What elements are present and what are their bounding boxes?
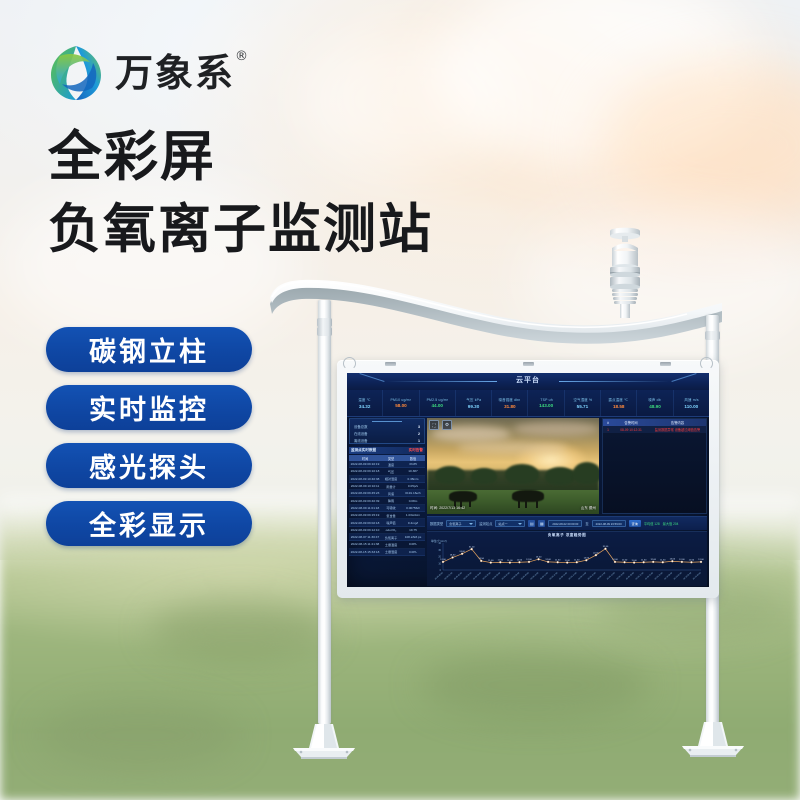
chart-data-point — [662, 561, 664, 563]
chart-x-tick-label: 08-09 21:00 — [635, 572, 644, 580]
site-select[interactable]: 站点一 — [495, 520, 525, 527]
chart-data-label: 11.50 — [689, 559, 695, 561]
table-cell: 0.4mg/l — [401, 521, 425, 525]
chart-data-label: 12.00 — [545, 559, 551, 561]
chart-x-tick-label: 08-09 02:00 — [454, 572, 463, 580]
table-cell: odor/O₂ — [381, 528, 401, 532]
chart-data-label: 31.00 — [469, 546, 475, 548]
panel-accent-line — [372, 421, 402, 422]
metric-value: 31.80 — [504, 404, 516, 409]
video-bush — [545, 467, 575, 485]
video-cow — [512, 490, 544, 502]
date-end-input[interactable]: 2022-08-09 23:59:00 — [592, 520, 626, 527]
metric-cell: PM10 ug/m³58.00 — [383, 390, 419, 416]
table-row[interactable]: 2022-08-15 11:21:38土壤温度0.0PL — [349, 541, 425, 548]
chevron-down-icon — [518, 523, 522, 525]
table-cell: 2022-08-09 09:10:19 — [349, 462, 381, 466]
metric-label: TSP uh — [540, 398, 552, 402]
table-cell: 0191.16e/h — [401, 491, 425, 495]
data-type-select[interactable]: 负氧离子 — [446, 520, 476, 527]
chart-data-point — [557, 561, 559, 563]
chart-data-point — [576, 561, 578, 563]
table-cell: 可吸收 — [381, 505, 401, 510]
metric-label: 风速 m/s — [684, 398, 698, 403]
chart-x-tick-label: 08-09 16:00 — [588, 572, 597, 580]
field-texture — [150, 600, 330, 660]
alarm-column-header: 告警内容 — [649, 420, 706, 425]
table-row[interactable]: 2022-08-09 09:10:19温度33.85 — [349, 461, 425, 468]
chart-data-point — [471, 548, 473, 550]
chart-x-tick-label: 08-09 23:00 — [655, 572, 664, 580]
metric-value: 58.00 — [395, 403, 407, 408]
capture-icon[interactable]: ⛶ — [429, 420, 439, 430]
chart-y-tick-label: 10 — [438, 562, 441, 565]
chart-data-label: 11.50 — [498, 559, 504, 561]
table-cell: 相对湿度 — [381, 476, 401, 481]
metric-cell: 风速 m/s110.00 — [674, 390, 709, 416]
chart-data-point — [566, 562, 568, 564]
metric-cell: 气压 kPa99.30 — [456, 390, 492, 416]
metric-value: 143.00 — [539, 403, 553, 408]
chart-x-tick-label: 08-09 11:00 — [540, 572, 549, 580]
table-row[interactable]: 2022-08-09 10:10:11雨量计0.05p/s — [349, 483, 425, 490]
data-section-header: 监测点实时数据 实时告警 — [349, 447, 425, 454]
table-cell: 10.387 — [401, 469, 425, 473]
chart-data-point — [442, 561, 444, 563]
chart-data-point — [633, 562, 635, 564]
device-stat-row: 离线设备1 — [354, 437, 420, 444]
metric-strip: 温度 ℃34.32PM10 ug/m³58.00PM2.5 ug/m³44.00… — [347, 390, 709, 417]
brand-name-text: 万象系 — [115, 51, 235, 95]
metric-label: PM2.5 ug/m³ — [426, 398, 448, 402]
chart-data-point — [690, 561, 692, 563]
chart-x-tick-label: 08-09 19:00 — [616, 572, 625, 580]
chart-x-tick-label: 08-10 01:00 — [674, 572, 683, 580]
data-type-label: 数据类型 — [430, 521, 443, 526]
metric-label: 空气湿度 % — [573, 398, 592, 403]
table-cell: 2022-08-15 15:33:18 — [349, 550, 381, 554]
table-row[interactable]: 2022-08-15 15:33:18土壤湿度0.0PL — [349, 549, 425, 556]
feature-badge-list: 碳钢立柱 实时监控 感光探头 全彩显示 — [46, 327, 252, 546]
table-cell: 土壤温度 — [381, 542, 401, 547]
chart-x-tick-label: 08-10 02:00 — [683, 572, 692, 580]
device-stat-value: 2 — [418, 432, 420, 436]
readout-maximum: 最大值 204 — [663, 521, 679, 526]
table-cell: 2022-08-07 11:30:47 — [349, 535, 381, 539]
device-stat-row: 设备总数3 — [354, 423, 420, 430]
chart-x-tick-label: 08-09 07:00 — [502, 572, 511, 580]
chart-x-tick-label: 08-09 05:00 — [483, 572, 492, 580]
chart-data-point — [604, 548, 606, 550]
metric-label: 气压 kPa — [466, 398, 481, 403]
site-value: 站点一 — [498, 521, 507, 526]
metric-label: 露点温度 ℃ — [609, 398, 629, 403]
swirl-sphere-icon — [48, 44, 104, 102]
camera-video-feed[interactable]: ⛶ ⚙ 时间: 2022/7/13 16:42 山东 德州 — [427, 418, 599, 514]
table-cell: 19.75 — [401, 528, 425, 532]
chart-data-point — [490, 562, 492, 564]
chart-data-point — [671, 560, 673, 562]
chart-data-label: 12.00 — [679, 559, 685, 561]
table-cell: 0.0PL — [401, 542, 425, 546]
chart-view-icon[interactable]: ▦ — [538, 520, 545, 527]
chart-x-tick-label: 08-09 06:00 — [492, 572, 501, 580]
metric-value: 55.71 — [577, 404, 589, 409]
chart-data-label: 16.00 — [536, 556, 542, 558]
metric-label: 温度 ℃ — [358, 398, 370, 403]
chart-data-label: 11.50 — [622, 559, 628, 561]
chart-x-tick-label: 08-09 17:00 — [597, 572, 606, 580]
table-cell: 0.0PL — [401, 550, 425, 554]
chart-data-label: 11.50 — [517, 559, 523, 561]
table-cell: 雨量计 — [381, 484, 401, 489]
chart-data-point — [452, 557, 454, 559]
metric-cell: 空气湿度 %55.71 — [565, 390, 601, 416]
feature-badge-realtime-monitoring[interactable]: 实时监控 — [46, 385, 252, 430]
table-row[interactable]: 2022-08-09 09:10:18气压10.387 — [349, 468, 425, 475]
headline-line-1: 全彩屏 — [48, 126, 433, 188]
chart-data-label: 11.50 — [574, 559, 580, 561]
table-column-header: 类型 — [381, 456, 401, 461]
table-cell: 2022-08-15 11:21:38 — [349, 542, 381, 546]
metric-label: 噪声 db — [649, 398, 662, 403]
chart-data-label: 12.00 — [526, 559, 532, 561]
chart-data-label: 11.00 — [507, 560, 513, 562]
table-row[interactable]: 2022-08-09 09:15:19氧含量1.03s/dcm — [349, 512, 425, 519]
table-row[interactable]: 2022-08-09 11:01:18可吸收0.007562/ — [349, 505, 425, 512]
metric-cell: 露点温度 ℃18.58 — [601, 390, 637, 416]
chart-data-label: 13.00 — [670, 558, 676, 560]
video-cow-leg — [525, 501, 527, 508]
query-button[interactable]: 查询 — [629, 520, 641, 527]
chart-data-point — [700, 561, 702, 563]
chart-data-label: 12.00 — [440, 559, 446, 561]
field-texture — [420, 650, 650, 720]
table-cell: 噪声值 — [381, 520, 401, 525]
chart-y-tick-label: 30 — [438, 549, 441, 552]
chart-data-label: 11.50 — [660, 559, 666, 561]
metric-cell: 噪音强度 dbn31.80 — [492, 390, 528, 416]
table-cell: 2022-08-09 09:40:39 — [349, 499, 381, 503]
table-row[interactable]: 2022-08-09 10:40:38相对湿度0.38m/s — [349, 476, 425, 483]
chart-data-point — [480, 560, 482, 562]
table-cell: 0.007562/ — [401, 506, 425, 510]
chart-data-label: 11.50 — [555, 559, 561, 561]
date-start-input[interactable]: 2022-08-02 00:00:00 — [548, 520, 582, 527]
table-cell: 风速 — [381, 491, 401, 496]
realtime-alert-label: 实时告警 — [409, 448, 423, 453]
metric-value: 48.90 — [649, 404, 661, 409]
table-cell: 0.05p/s — [401, 484, 425, 488]
alarm-header-row: #告警时间告警内容 — [603, 419, 706, 426]
readout-average: 平均值 128 — [644, 521, 660, 526]
table-cell: 氧含量 — [381, 513, 401, 518]
table-cell: 负氧离子 — [381, 535, 401, 540]
alarm-panel[interactable]: #告警时间告警内容 108-09 10:12:31监测数据异常 设备超过阈值告警 — [602, 418, 707, 514]
table-cell: 2022-08-09 09:45:23 — [349, 491, 381, 495]
table-view-icon[interactable]: ▤ — [528, 520, 535, 527]
table-column-header: 数值 — [401, 456, 425, 461]
chart-x-tick-label: 08-09 08:00 — [511, 572, 520, 580]
data-type-value: 负氧离子 — [449, 521, 461, 526]
metric-value: 18.58 — [613, 404, 625, 409]
field-texture — [40, 700, 240, 770]
chart-data-label: 24.00 — [459, 551, 465, 553]
device-stat-value: 3 — [418, 425, 420, 429]
chart-data-point — [499, 561, 501, 563]
video-bush — [471, 468, 497, 484]
table-cell: 2022-08-09 09:10:18 — [349, 469, 381, 473]
led-display-screen[interactable]: 云平台 监测站点一 欢迎您 管理员 退出 温度 ℃34.32PM10 ug/m³… — [347, 373, 709, 587]
metric-cell: TSP uh143.00 — [528, 390, 564, 416]
video-bush — [505, 464, 539, 484]
chart-x-tick-label: 08-09 09:00 — [521, 572, 530, 580]
chart-x-tick-label: 08-09 03:00 — [463, 572, 472, 580]
chart-data-label: 12.00 — [612, 559, 618, 561]
metric-value: 34.32 — [359, 404, 371, 409]
chart-x-tick-label: 08-09 18:00 — [607, 572, 616, 580]
feature-badge-full-color-display[interactable]: 全彩显示 — [46, 501, 252, 546]
table-cell: 1.03s/dcm — [401, 513, 425, 517]
chevron-down-icon — [469, 523, 473, 525]
device-stat-value: 1 — [418, 439, 420, 443]
chart-data-point — [547, 561, 549, 563]
device-stats-panel: 设备总数3在线设备2离线设备1 — [349, 418, 425, 444]
brand-logo: 万象系 ® — [48, 44, 235, 102]
table-cell: 2022-08-09 11:01:18 — [349, 506, 381, 510]
feature-badge-light-sensor[interactable]: 感光探头 — [46, 443, 252, 488]
table-cell: 温度 — [381, 462, 401, 467]
dashboard-title: 云平台 — [347, 375, 709, 385]
metric-value: 99.30 — [468, 404, 480, 409]
table-cell: 2022-08-09 10:10:11 — [349, 484, 381, 488]
table-cell: 2022-08-09 09:02:18 — [349, 521, 381, 525]
chart-data-label: 31.50 — [603, 546, 609, 548]
chart-data-point — [652, 561, 654, 563]
table-row[interactable]: 2022-08-09 09:12:10odor/O₂19.75 — [349, 527, 425, 534]
chart-y-tick-label: 0 — [440, 569, 442, 572]
chart-data-label: 14.50 — [584, 557, 590, 559]
metric-label: 噪音强度 dbn — [499, 398, 521, 403]
metric-value: 44.00 — [431, 403, 443, 408]
chart-data-label: 11.00 — [488, 560, 494, 562]
video-bush — [435, 466, 465, 484]
metric-value: 110.00 — [684, 404, 698, 409]
alarm-column-header: 告警时间 — [613, 420, 649, 425]
video-cow-leg — [469, 501, 471, 507]
chart-y-tick-label: 40 — [438, 542, 441, 545]
table-header-row: 时间类型数值 — [349, 455, 425, 461]
chart-data-point — [518, 561, 520, 563]
chart-data-label: 12.00 — [650, 559, 656, 561]
video-timestamp: 时间: 2022/7/13 16:42 — [430, 506, 465, 511]
video-toolbar[interactable]: ⛶ ⚙ — [429, 420, 452, 430]
metric-cell: 温度 ℃34.32 — [347, 390, 383, 416]
video-cow-leg — [536, 501, 538, 508]
table-row[interactable]: 2022-08-09 09:45:23风速0191.16e/h — [349, 490, 425, 497]
chart-x-tick-label: 08-09 01:00 — [444, 572, 453, 580]
video-location: 山东 德州 — [581, 506, 596, 511]
table-cell: 2022-08-09 09:12:10 — [349, 528, 381, 532]
alarm-row[interactable]: 108-09 10:12:31监测数据异常 设备超过阈值告警 — [603, 426, 706, 433]
chart-data-point — [585, 559, 587, 561]
table-row[interactable]: 2022-08-09 09:02:18噪声值0.4mg/l — [349, 519, 425, 526]
data-section-title: 监测点实时数据 — [351, 448, 376, 453]
chart-data-label: 11.50 — [641, 559, 647, 561]
alarm-cell: 08-09 10:12:31 — [613, 428, 649, 432]
left-column: 设备总数3在线设备2离线设备1 监测点实时数据 实时告警 时间类型数值 2022… — [349, 418, 425, 585]
video-cow-leg — [518, 501, 520, 508]
trend-line-chart: 01020304012.0008-09 00:0018.5008-09 01:0… — [427, 538, 707, 584]
device-stat-name: 设备总数 — [354, 424, 368, 429]
alarm-cell: 监测数据异常 设备超过阈值告警 — [649, 427, 706, 432]
query-control-bar[interactable]: 数据类型 负氧离子 监测站点 站点一 ▤ ▦ 2022-08-02 00:00:… — [427, 516, 707, 530]
measurement-table[interactable]: 时间类型数值 2022-08-09 09:10:19温度33.852022-08… — [349, 455, 425, 556]
chart-x-tick-label: 08-09 15:00 — [578, 572, 587, 580]
chart-data-label: 11.00 — [565, 560, 571, 562]
table-row[interactable]: 2022-08-09 09:40:39降雨0.08m — [349, 497, 425, 504]
chart-x-tick-label: 08-09 00:00 — [435, 572, 444, 580]
chart-data-label: 13.50 — [478, 558, 484, 560]
video-timestamp-label: 时间: — [430, 506, 438, 510]
table-cell: 0.08m — [401, 499, 425, 503]
table-cell: 2022-08-09 09:15:19 — [349, 513, 381, 517]
device-stat-row: 在线设备2 — [354, 430, 420, 437]
chart-x-tick-label: 08-09 22:00 — [645, 572, 654, 580]
metric-cell: 噪声 db48.90 — [637, 390, 673, 416]
video-bush — [573, 462, 599, 484]
table-cell: 0.38m/s — [401, 477, 425, 481]
chart-x-tick-label: 08-09 04:00 — [473, 572, 482, 580]
table-cell: 降雨 — [381, 498, 401, 503]
chart-data-label: 11.00 — [631, 560, 637, 562]
trend-chart-panel[interactable]: 负氧离子 浓度趋势图 单位(个/cm³) 01020304012.0008-09… — [427, 531, 707, 586]
chart-x-tick-label: 08-09 14:00 — [569, 572, 578, 580]
chart-data-point — [509, 562, 511, 564]
chart-x-tick-label: 08-09 10:00 — [530, 572, 539, 580]
date-range-separator: 至 — [585, 521, 588, 526]
product-poster: 万象系 ® 全彩屏 负氧离子监测站 碳钢立柱 实时监控 感光探头 全彩显示 — [0, 0, 800, 800]
settings-icon[interactable]: ⚙ — [442, 420, 452, 430]
chart-x-tick-label: 08-09 12:00 — [549, 572, 558, 580]
chart-data-point — [528, 561, 530, 563]
feature-badge-carbon-steel-post[interactable]: 碳钢立柱 — [46, 327, 252, 372]
chart-data-label: 22.00 — [593, 552, 599, 554]
chart-data-point — [624, 561, 626, 563]
chart-x-tick-label: 08-09 20:00 — [626, 572, 635, 580]
brand-name: 万象系 ® — [115, 54, 235, 92]
trademark-icon: ® — [235, 50, 250, 63]
headline-line-2: 负氧离子监测站 — [48, 200, 433, 260]
chart-x-tick-label: 08-10 03:00 — [693, 572, 702, 580]
table-column-header: 时间 — [349, 456, 381, 461]
chart-data-point — [595, 554, 597, 556]
headline-block: 全彩屏 负氧离子监测站 — [48, 126, 433, 260]
chart-data-point — [461, 553, 463, 555]
table-cell: 108.2AM.ps — [401, 535, 425, 539]
video-cloud — [513, 422, 599, 436]
table-cell: 2022-08-09 10:40:38 — [349, 477, 381, 481]
chart-x-tick-label: 08-09 13:00 — [559, 572, 568, 580]
table-cell: 土壤湿度 — [381, 549, 401, 554]
chart-data-point — [538, 558, 540, 560]
chart-data-point — [681, 561, 683, 563]
table-cell: 气压 — [381, 469, 401, 474]
alarm-cell: 1 — [603, 428, 613, 432]
alarm-column-header: # — [603, 421, 613, 425]
chart-data-point — [643, 561, 645, 563]
video-cloud — [457, 442, 567, 454]
device-stat-name: 离线设备 — [354, 438, 368, 443]
video-timestamp-value: 2022/7/13 16:42 — [439, 506, 465, 510]
metric-cell: PM2.5 ug/m³44.00 — [420, 390, 456, 416]
device-stat-name: 在线设备 — [354, 431, 368, 436]
table-row[interactable]: 2022-08-07 11:30:47负氧离子108.2AM.ps — [349, 534, 425, 541]
chart-data-point — [614, 561, 616, 563]
chart-x-tick-label: 08-10 00:00 — [664, 572, 673, 580]
chart-data-label: 18.50 — [450, 555, 456, 557]
site-label: 监测站点 — [479, 521, 492, 526]
metric-label: PM10 ug/m³ — [391, 398, 411, 402]
field-texture — [600, 580, 790, 640]
table-cell: 33.85 — [401, 462, 425, 466]
chart-data-label: 12.00 — [698, 559, 704, 561]
